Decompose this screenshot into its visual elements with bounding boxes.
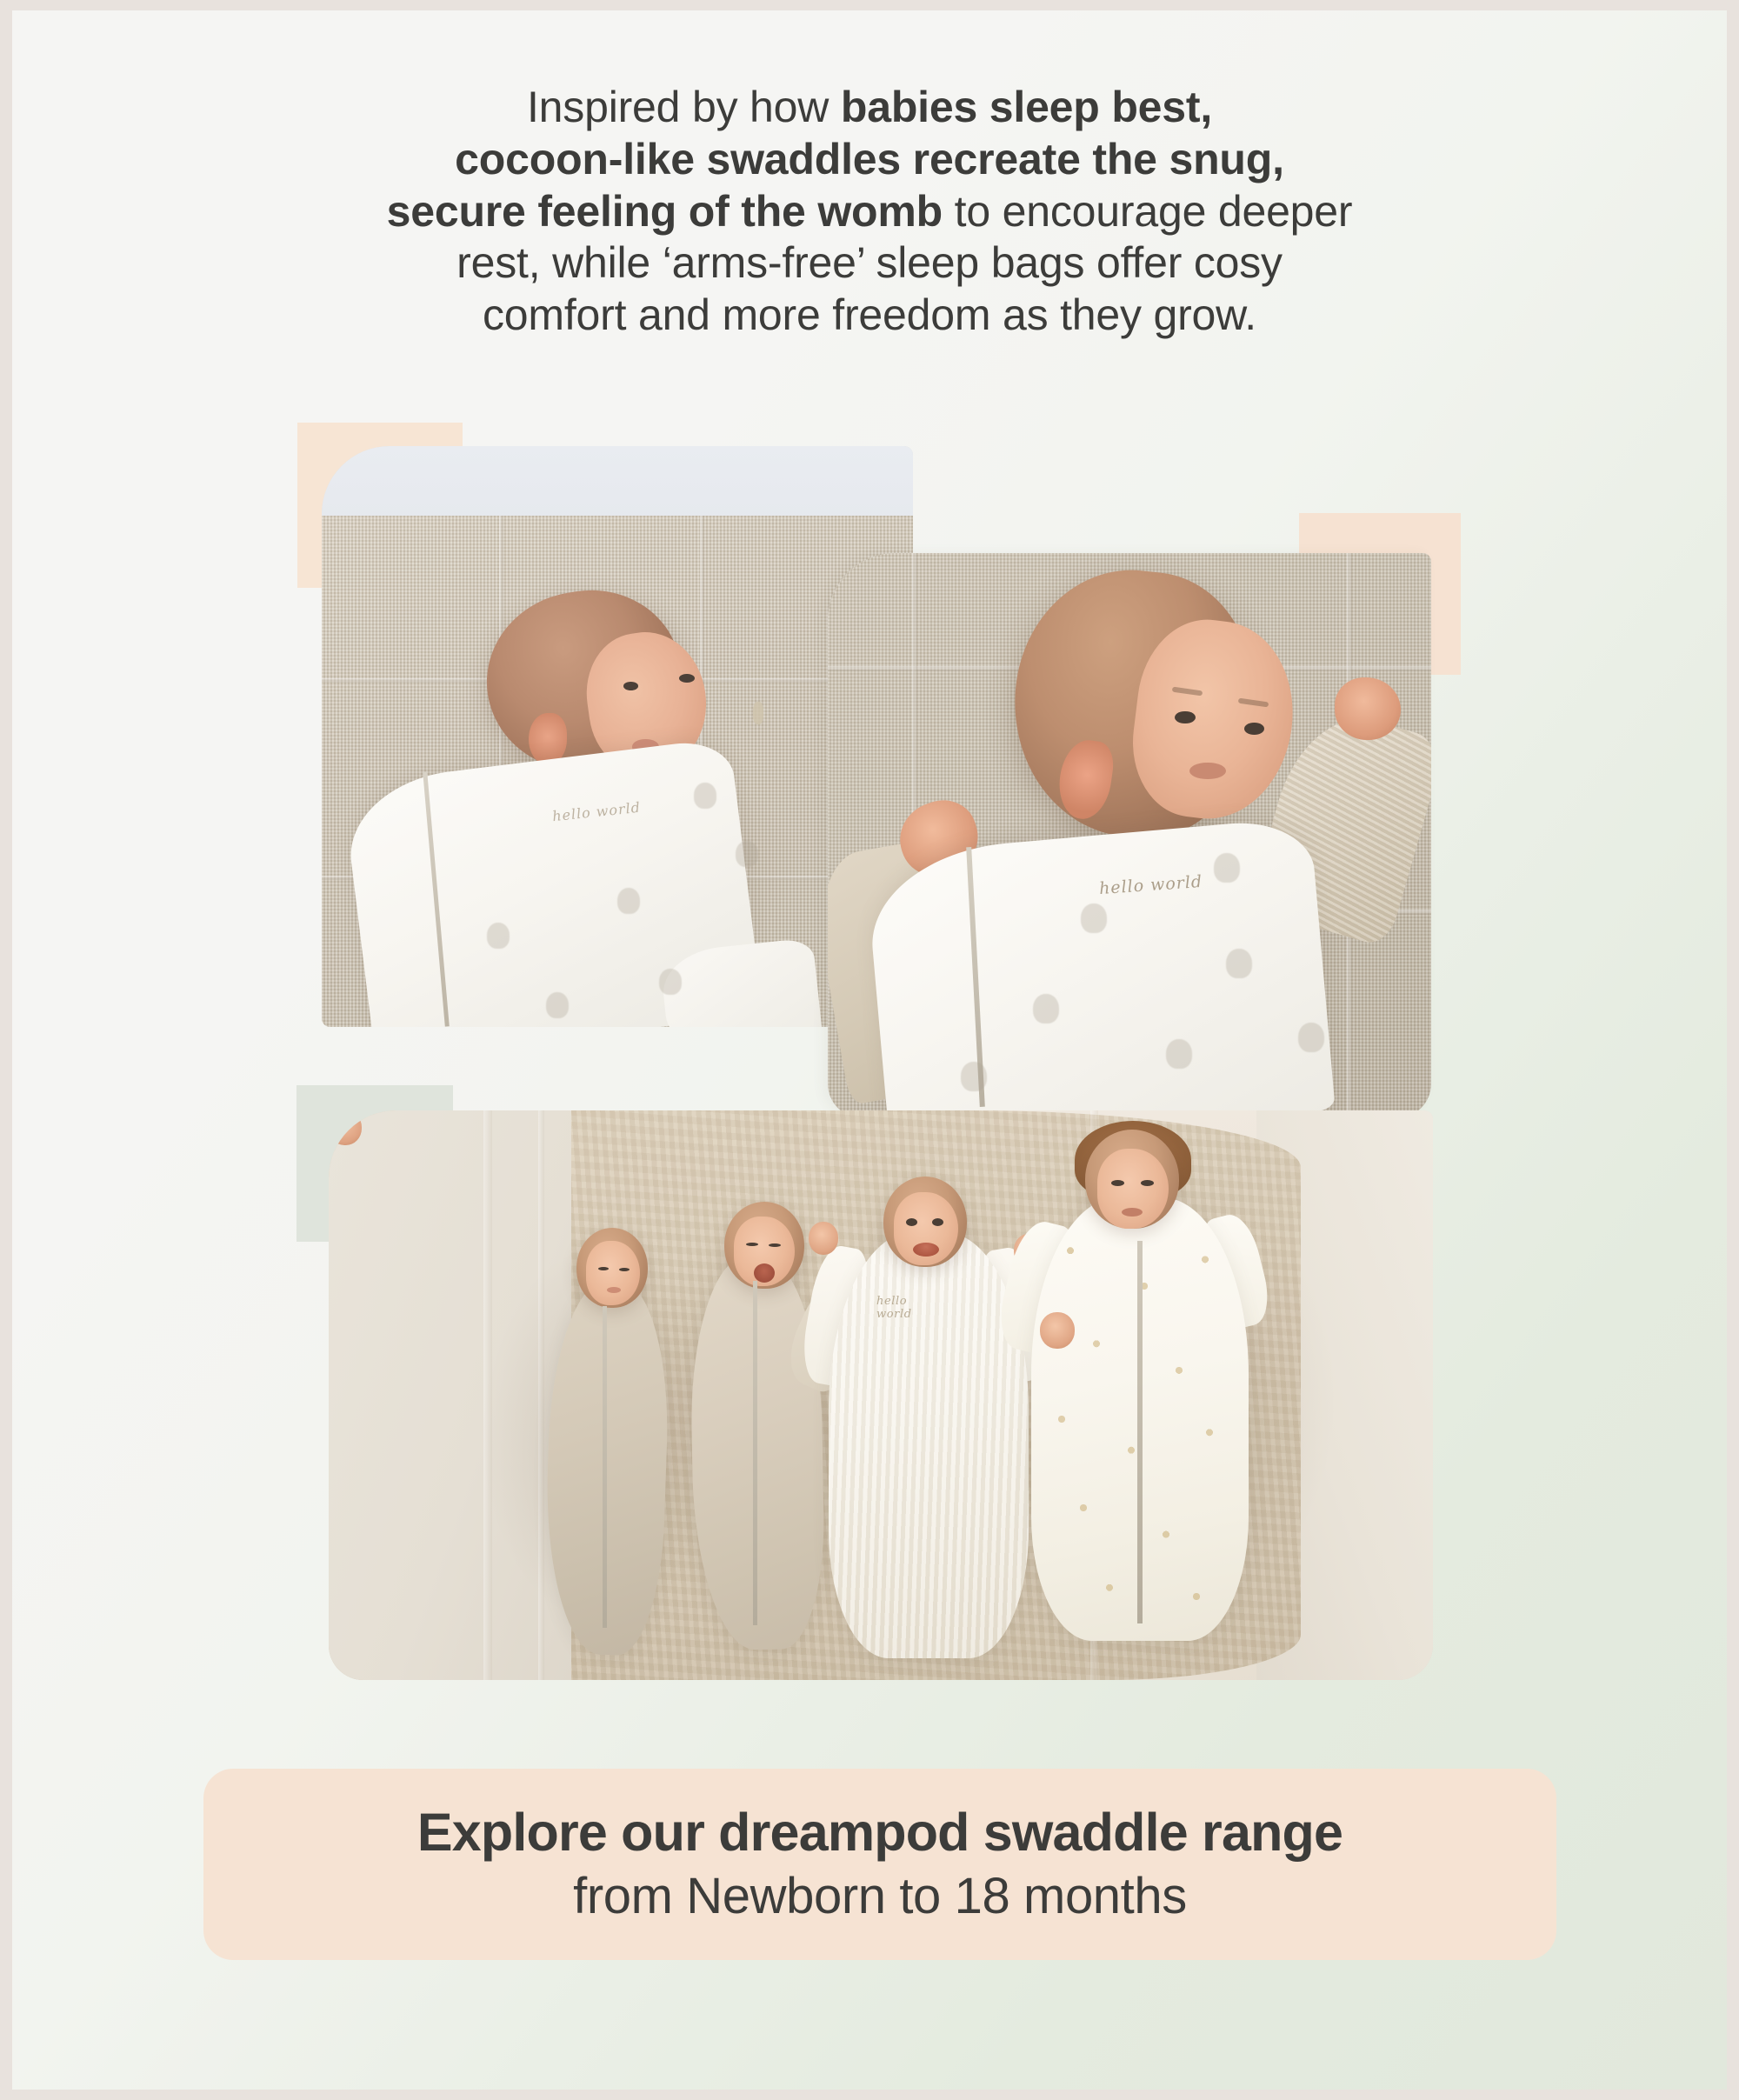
- bunny-print-motif: [1226, 949, 1252, 978]
- baby-1-mouth: [607, 1287, 621, 1293]
- bunny-print-motif: [1081, 903, 1107, 933]
- baby-eye: [1175, 711, 1196, 723]
- baby-3-smiling-mouth: [913, 1243, 939, 1257]
- baby-4-hand-left: [1040, 1312, 1075, 1349]
- baby-4-eye: [1111, 1180, 1124, 1186]
- baby-1-eye: [619, 1268, 630, 1271]
- bunny-print-motif: [736, 841, 758, 867]
- baby-4-eye: [1141, 1180, 1154, 1186]
- bunny-print-motif: [1214, 853, 1240, 883]
- baby-3-sleep-bag: [829, 1232, 1029, 1658]
- baby-1-eye: [598, 1267, 609, 1270]
- baby-eye: [679, 674, 695, 683]
- blanket-detail: [753, 702, 763, 724]
- baby-4-mouth: [1122, 1208, 1143, 1217]
- baby-4-zip: [1137, 1241, 1143, 1623]
- bunny-print-motif: [1298, 1023, 1324, 1052]
- baby-hand-right: [1335, 677, 1401, 740]
- cta-subheadline: from Newborn to 18 months: [573, 1867, 1187, 1925]
- white-swaddle-garment: [864, 817, 1335, 1118]
- baby-2-hand: [329, 1110, 362, 1145]
- baby-3-hand-left: [809, 1222, 838, 1255]
- baby-2-open-mouth: [754, 1263, 775, 1283]
- bunny-print-motif: [617, 888, 640, 914]
- bunny-print-motif: [961, 1062, 987, 1091]
- baby-2-eye: [746, 1243, 758, 1246]
- bunny-print-motif: [694, 783, 716, 809]
- baby-3-embroidery-text: hello world: [876, 1295, 912, 1321]
- bunny-print-motif: [1166, 1039, 1192, 1069]
- photo-newborn-swaddle-top-left[interactable]: hello world: [322, 446, 913, 1027]
- baby-1-zip: [603, 1306, 607, 1628]
- baby-mouth: [1189, 763, 1226, 780]
- baby-eye: [623, 682, 639, 690]
- muslin-texture: [829, 1232, 1029, 1658]
- baby-2-zip: [753, 1281, 757, 1625]
- baby-1-face: [586, 1241, 640, 1305]
- baby-2-yawning-swaddle: [329, 1110, 362, 1145]
- baby-2-eye: [769, 1243, 781, 1247]
- photo-four-babies-size-range[interactable]: hello world: [329, 1110, 1433, 1680]
- bunny-print-motif: [1033, 994, 1059, 1023]
- cta-headline: Explore our dreampod swaddle range: [417, 1803, 1343, 1862]
- bunny-print-motif: [659, 969, 682, 995]
- baby-4-face: [1097, 1149, 1169, 1229]
- baby-3-eye: [932, 1218, 943, 1226]
- baby-3-eye: [906, 1218, 917, 1226]
- photo-newborn-swaddle-right[interactable]: hello world: [828, 553, 1431, 1118]
- cta-banner[interactable]: Explore our dreampod swaddle range from …: [203, 1769, 1556, 1960]
- bunny-print-motif: [487, 923, 510, 949]
- bunny-print-motif: [546, 992, 569, 1018]
- promo-canvas: Inspired by how babies sleep best, cocoo…: [12, 10, 1727, 2090]
